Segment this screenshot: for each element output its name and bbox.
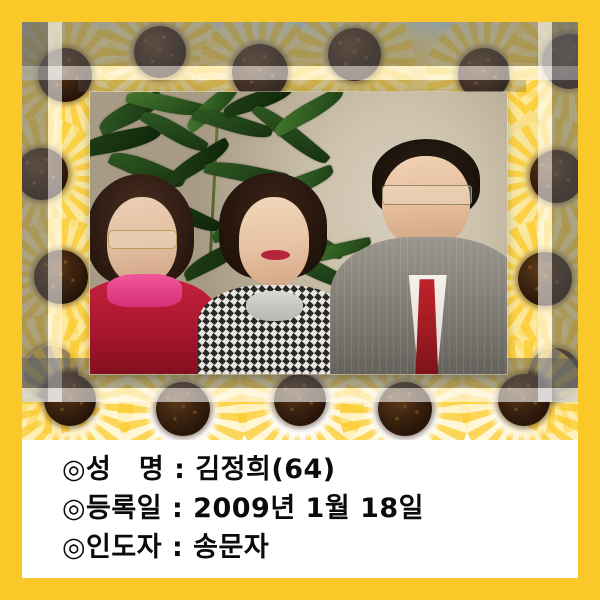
person-right-man — [340, 137, 507, 374]
eyeglasses-icon — [382, 185, 472, 206]
eyeglasses-icon — [108, 230, 178, 249]
sunflower-center — [44, 374, 96, 426]
info-line-referrer: ◎인도자 : 송문자 — [62, 528, 578, 567]
info-panel: ◎성 명 : 김정희(64) ◎등록일 : 2009년 1월 18일 ◎인도자 … — [22, 440, 578, 578]
turtleneck-collar — [246, 291, 303, 321]
person-center-woman — [211, 171, 340, 374]
sunflower-center — [530, 150, 578, 203]
profile-card: ◎성 명 : 김정희(64) ◎등록일 : 2009년 1월 18일 ◎인도자 … — [0, 0, 600, 600]
info-line-registration-date: ◎등록일 : 2009년 1월 18일 — [62, 489, 578, 528]
person-left-woman — [90, 165, 207, 374]
info-line-name: ◎성 명 : 김정희(64) — [62, 450, 578, 489]
sunflower-center — [378, 382, 432, 436]
pink-scarf — [107, 274, 182, 307]
sunflower-center — [38, 48, 92, 102]
sunflower-center — [274, 374, 326, 426]
sunflower-center — [156, 382, 210, 436]
sunflower-center — [134, 26, 186, 78]
sunflower-center — [34, 250, 88, 304]
sunflower-border-decoration — [22, 22, 578, 462]
sunflower-center — [518, 252, 572, 306]
sunflower-center — [498, 374, 550, 426]
sunflower-center — [328, 28, 381, 81]
face — [239, 197, 309, 284]
group-photo[interactable] — [90, 92, 507, 374]
